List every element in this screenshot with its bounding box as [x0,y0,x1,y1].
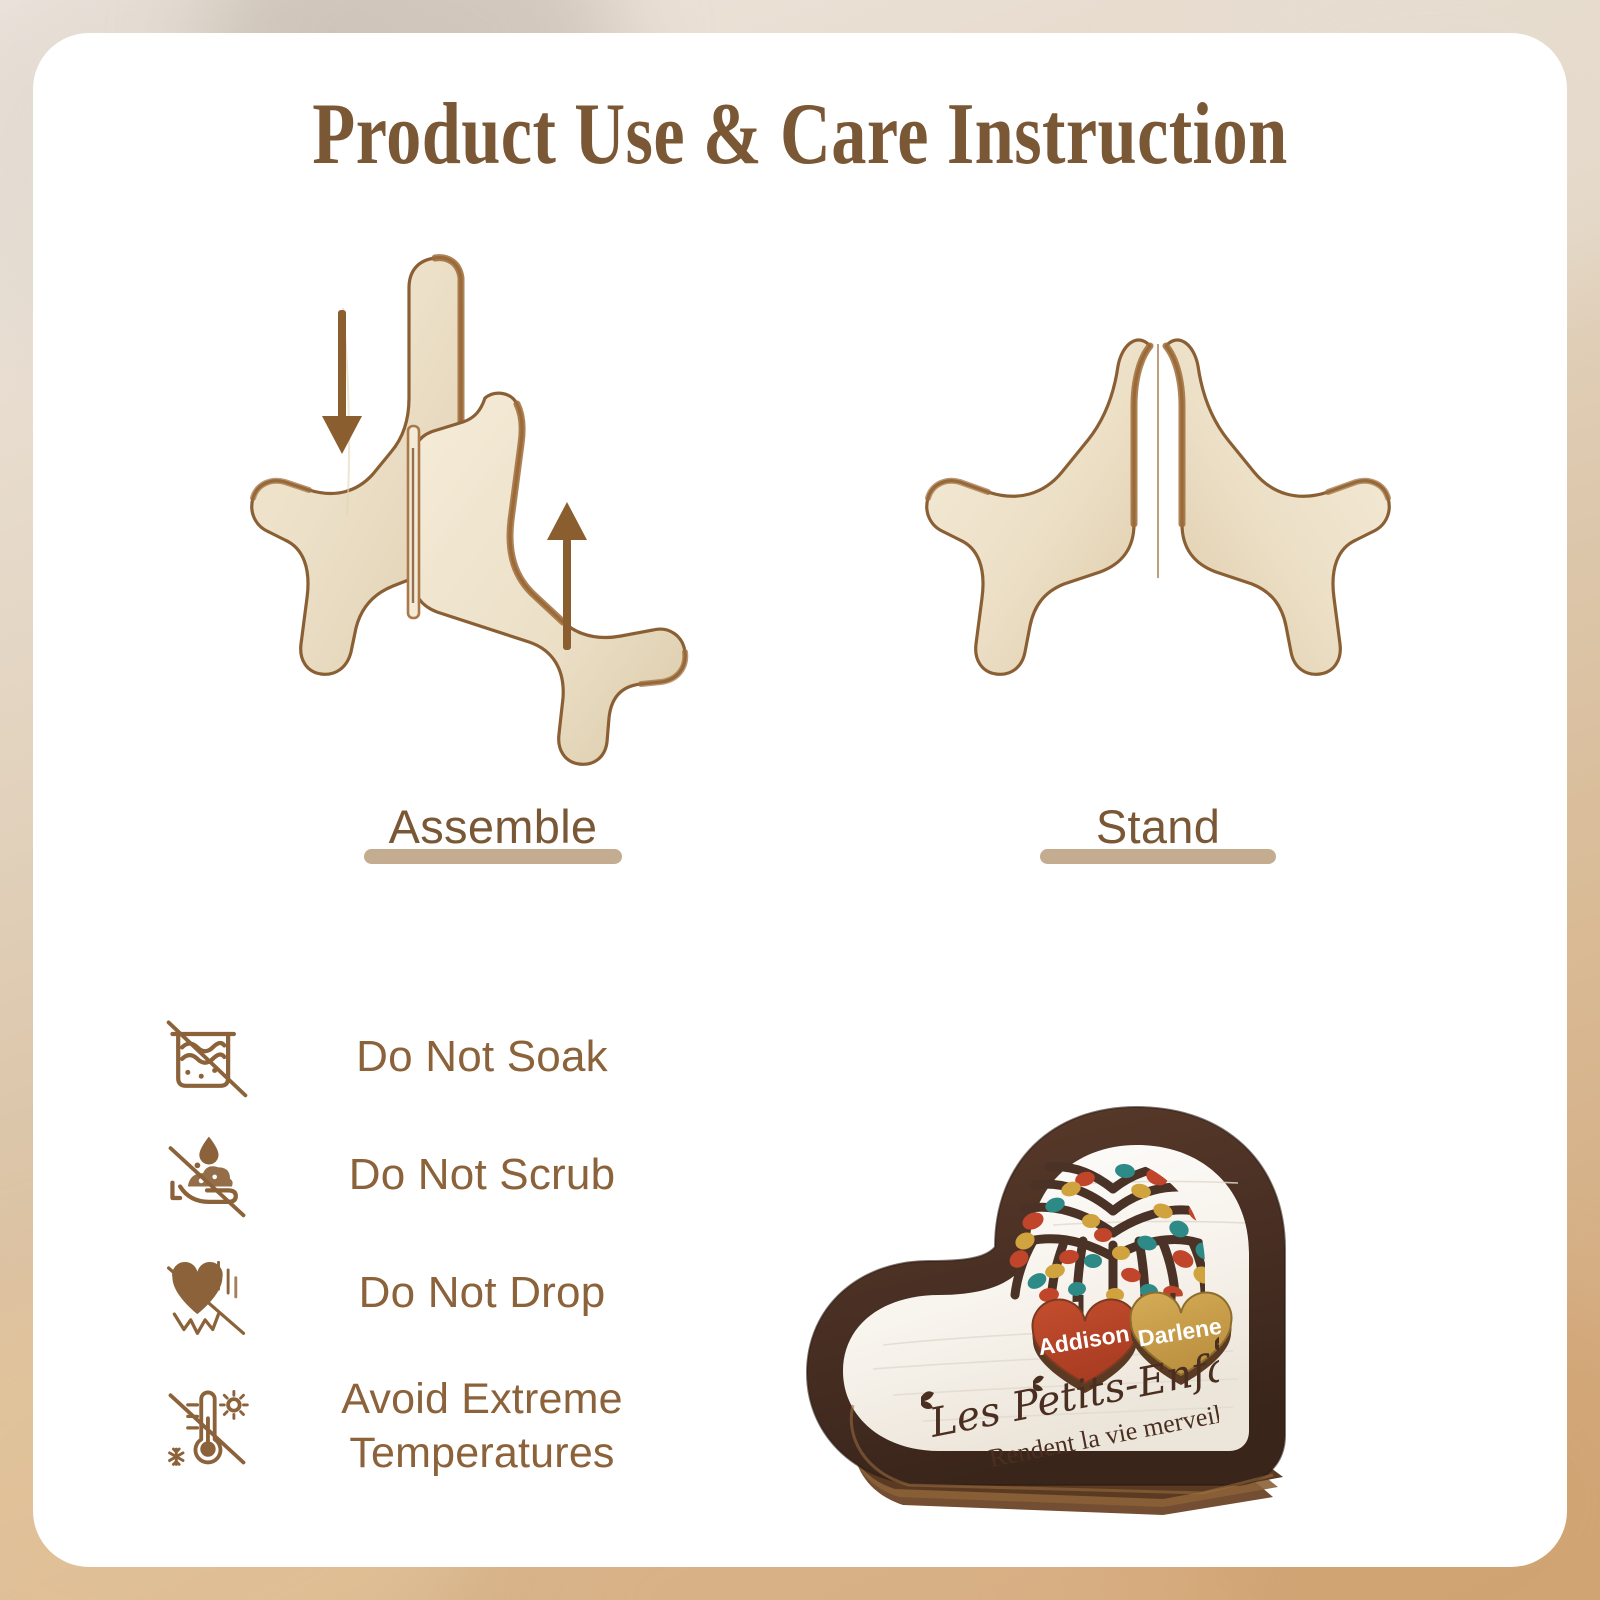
care-label-temperature-line1: Avoid Extreme [263,1372,701,1426]
care-label-temperature-line2: Temperatures [263,1426,701,1480]
product-photo-heart-plaque: Addison Darlene [733,1045,1523,1575]
assemble-label-group: Assemble [223,796,763,870]
instruction-card: Product Use & Care Instruction [33,33,1567,1567]
assemble-label: Assemble [389,796,598,858]
care-label-scrub: Do Not Scrub [263,1148,711,1202]
stand-label: Stand [1096,796,1220,858]
no-drop-heart-icon [151,1241,263,1345]
step-stand: Stand [888,248,1428,888]
easel-joint-slot [408,426,419,618]
care-label-temperature: Avoid Extreme Temperatures [263,1372,711,1480]
care-row-soak: Do Not Soak [151,998,711,1116]
page-title: Product Use & Care Instruction [186,91,1413,179]
stand-piece-right [1166,340,1389,674]
easel-piece-lower [413,393,685,764]
stand-label-group: Stand [888,796,1428,870]
no-scrub-icon [151,1123,263,1227]
poster-canvas: Product Use & Care Instruction [0,0,1600,1600]
no-soak-icon [151,1005,263,1109]
stand-piece-left [927,340,1150,674]
care-label-drop: Do Not Drop [263,1266,711,1320]
step-assemble: Assemble [223,248,763,888]
stand-illustration [888,248,1428,788]
care-instruction-list: Do Not Soak Do Not Scrub [151,998,711,1500]
care-row-temperature: Avoid Extreme Temperatures [151,1352,711,1500]
no-extreme-temperature-icon [151,1374,263,1478]
care-label-soak: Do Not Soak [263,1030,711,1084]
care-row-drop: Do Not Drop [151,1234,711,1352]
care-row-scrub: Do Not Scrub [151,1116,711,1234]
assemble-illustration [223,248,763,788]
down-arrow-icon [322,310,362,454]
